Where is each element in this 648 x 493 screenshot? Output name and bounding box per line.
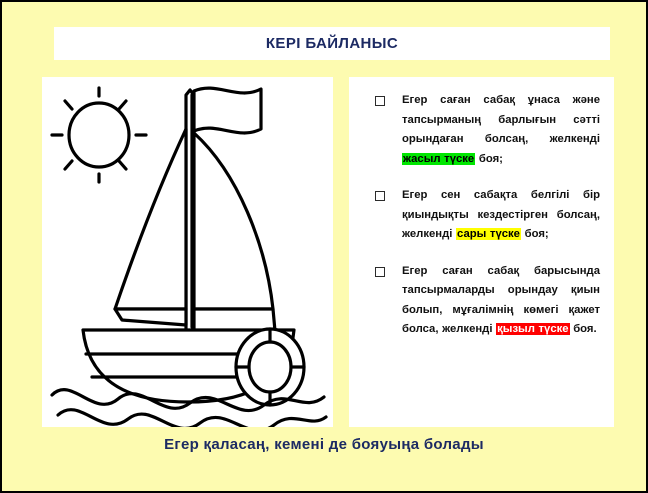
caption-text: Егер қаласаң, кемені де бояуыңа болады <box>2 436 646 453</box>
instruction-text: Егер саған сабақ барысында тапсырмаларды… <box>402 262 600 340</box>
instruction-text: Егер сен сабақта белгілі бір қиындықты к… <box>402 186 600 245</box>
title-bar: КЕРІ БАЙЛАНЫС <box>54 27 610 60</box>
instruction-text-before: Егер саған сабақ ұнаса және тапсырманың … <box>402 94 600 145</box>
feedback-slide: КЕРІ БАЙЛАНЫС <box>0 0 648 493</box>
instruction-text-after: боя. <box>570 323 597 335</box>
highlight-yellow: сары түске <box>456 228 521 240</box>
highlight-red: қызыл түске <box>496 323 569 335</box>
page-title: КЕРІ БАЙЛАНЫС <box>266 35 398 52</box>
instruction-item-yellow[interactable]: Егер сен сабақта белгілі бір қиындықты к… <box>375 186 600 245</box>
empty-checkbox-icon[interactable] <box>375 267 385 277</box>
sailboat-icon <box>42 77 333 427</box>
instruction-text: Егер саған сабақ ұнаса және тапсырманың … <box>402 91 600 169</box>
illustration-panel <box>42 77 333 427</box>
empty-checkbox-icon[interactable] <box>375 96 385 106</box>
empty-checkbox-icon[interactable] <box>375 191 385 201</box>
instructions-panel: Егер саған сабақ ұнаса және тапсырманың … <box>349 77 614 427</box>
instruction-item-green[interactable]: Егер саған сабақ ұнаса және тапсырманың … <box>375 91 600 169</box>
instruction-item-red[interactable]: Егер саған сабақ барысында тапсырмаларды… <box>375 262 600 340</box>
instruction-text-after: боя; <box>521 228 549 240</box>
instruction-text-after: боя; <box>475 153 503 165</box>
highlight-green: жасыл түске <box>402 153 475 165</box>
